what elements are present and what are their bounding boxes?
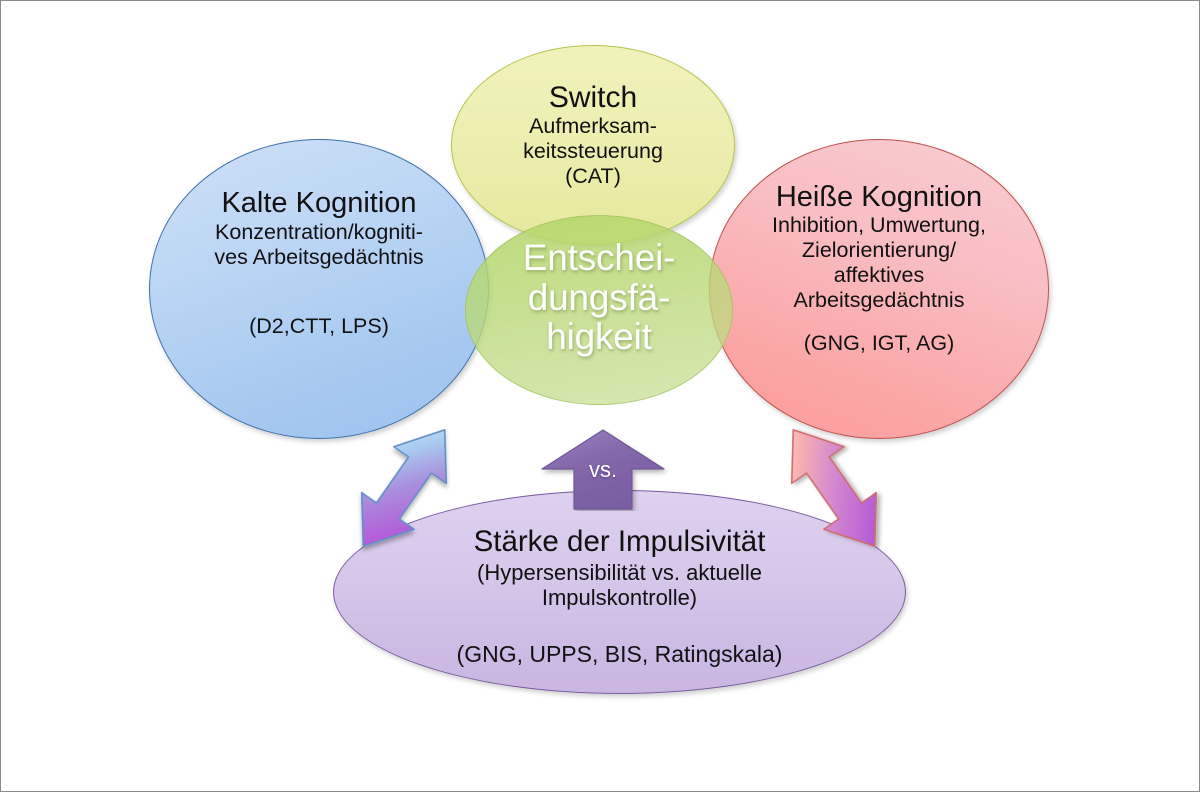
decision-capacity-line2: dungsfä- <box>523 278 675 318</box>
cold-cognition-tests: (D2,CTT, LPS) <box>249 314 389 339</box>
diagram-canvas: Kalte Kognition Konzentration/kogniti- v… <box>0 0 1200 792</box>
cold-cognition-subtitle: Konzentration/kogniti- ves Arbeitsgedäch… <box>169 220 469 270</box>
cold-cognition-title: Kalte Kognition <box>221 188 416 218</box>
double-headed-arrow-left[interactable] <box>319 403 489 573</box>
switch-subtitle: Aufmerksam- keitssteuerung <box>473 114 713 164</box>
impulsivity-title: Stärke der Impulsivität <box>474 527 766 558</box>
hot-cognition-subtitle-line1: Inhibition, Umwertung, <box>724 213 1034 238</box>
cold-cognition-subtitle-line2: ves Arbeitsgedächtnis <box>169 245 469 270</box>
hot-cognition-subtitle-line2: Zielorientierung/ <box>724 238 1034 263</box>
node-hot-cognition[interactable]: Heiße Kognition Inhibition, Umwertung, Z… <box>709 139 1049 439</box>
hot-cognition-subtitle: Inhibition, Umwertung, Zielorientierung/… <box>724 213 1034 313</box>
cold-cognition-subtitle-line1: Konzentration/kogniti- <box>169 220 469 245</box>
decision-capacity-line1: Entschei- <box>523 238 675 278</box>
decision-capacity-line3: higkeit <box>523 317 675 357</box>
decision-capacity-text: Entschei- dungsfä- higkeit <box>523 238 675 357</box>
hot-cognition-subtitle-line3: affektives <box>724 263 1034 288</box>
impulsivity-tests: (GNG, UPPS, BIS, Ratingskala) <box>457 641 783 668</box>
up-arrow-vs[interactable] <box>537 425 669 511</box>
hot-cognition-subtitle-line4: Arbeitsgedächtnis <box>724 288 1034 313</box>
switch-title: Switch <box>549 82 637 113</box>
switch-tests: (CAT) <box>565 164 621 189</box>
double-headed-arrow-right-icon <box>749 403 919 573</box>
up-arrow-vs-icon <box>537 425 669 511</box>
switch-subtitle-line1: Aufmerksam- <box>473 114 713 139</box>
double-headed-arrow-right[interactable] <box>749 403 919 573</box>
node-cold-cognition[interactable]: Kalte Kognition Konzentration/kogniti- v… <box>149 139 489 439</box>
node-decision-capacity[interactable]: Entschei- dungsfä- higkeit <box>465 215 733 405</box>
impulsivity-subtitle-line2: Impulskontrolle) <box>400 585 840 611</box>
switch-subtitle-line2: keitssteuerung <box>473 139 713 164</box>
hot-cognition-tests: (GNG, IGT, AG) <box>804 331 955 356</box>
double-headed-arrow-left-icon <box>319 403 489 573</box>
hot-cognition-title: Heiße Kognition <box>776 182 982 212</box>
